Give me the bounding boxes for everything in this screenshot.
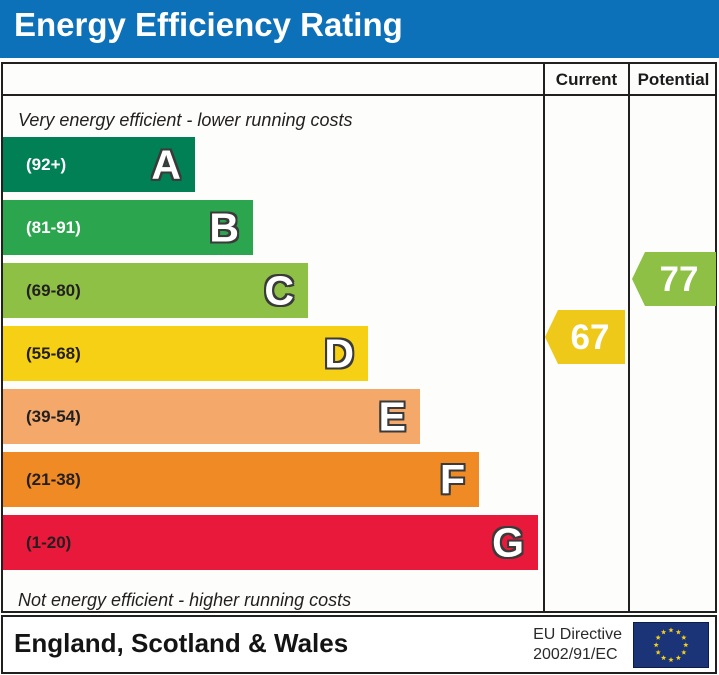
- title-banner: Energy Efficiency Rating: [0, 0, 719, 58]
- band-bar-b: (81-91)B: [3, 200, 253, 255]
- column-divider-potential: [628, 62, 630, 613]
- band-range-a: (92+): [26, 155, 66, 175]
- band-bar-f: (21-38)F: [3, 452, 479, 507]
- column-divider-current: [543, 62, 545, 613]
- band-bar-g: (1-20)G: [3, 515, 538, 570]
- band-bar-a: (92+)A: [3, 137, 195, 192]
- band-range-f: (21-38): [26, 470, 81, 490]
- eu-flag-stars: [634, 623, 708, 667]
- band-bars: (92+)A(81-91)B(69-80)C(55-68)D(39-54)E(2…: [3, 137, 543, 582]
- band-letter-b: B: [209, 207, 239, 248]
- band-letter-a: A: [151, 144, 181, 185]
- footer-region-label: England, Scotland & Wales: [14, 628, 348, 659]
- current-rating-value: 67: [561, 320, 610, 355]
- band-bar-d: (55-68)D: [3, 326, 368, 381]
- caption-inefficient: Not energy efficient - higher running co…: [18, 590, 351, 611]
- current-rating-badge: 67: [545, 310, 625, 364]
- band-range-d: (55-68): [26, 344, 81, 364]
- caption-efficient: Very energy efficient - lower running co…: [18, 110, 353, 131]
- potential-rating-value: 77: [650, 262, 699, 297]
- column-header-potential: Potential: [630, 70, 717, 90]
- column-header-current: Current: [545, 70, 628, 90]
- potential-rating-badge: 77: [632, 252, 716, 306]
- band-range-e: (39-54): [26, 407, 81, 427]
- band-letter-c: C: [264, 270, 294, 311]
- band-letter-g: G: [492, 522, 524, 563]
- footer-directive-line1: EU Directive: [533, 625, 622, 645]
- band-range-b: (81-91): [26, 218, 81, 238]
- band-letter-d: D: [324, 333, 354, 374]
- page-title: Energy Efficiency Rating: [14, 6, 403, 44]
- band-letter-f: F: [440, 459, 465, 500]
- band-bar-c: (69-80)C: [3, 263, 308, 318]
- band-range-g: (1-20): [26, 533, 71, 553]
- footer-directive-line2: 2002/91/EC: [533, 645, 622, 665]
- eu-flag-icon: [633, 622, 709, 668]
- band-range-c: (69-80): [26, 281, 81, 301]
- band-letter-e: E: [379, 396, 406, 437]
- energy-efficiency-rating-chart: Energy Efficiency Rating Current Potenti…: [0, 0, 719, 675]
- footer-directive: EU Directive 2002/91/EC: [533, 625, 622, 665]
- band-bar-e: (39-54)E: [3, 389, 420, 444]
